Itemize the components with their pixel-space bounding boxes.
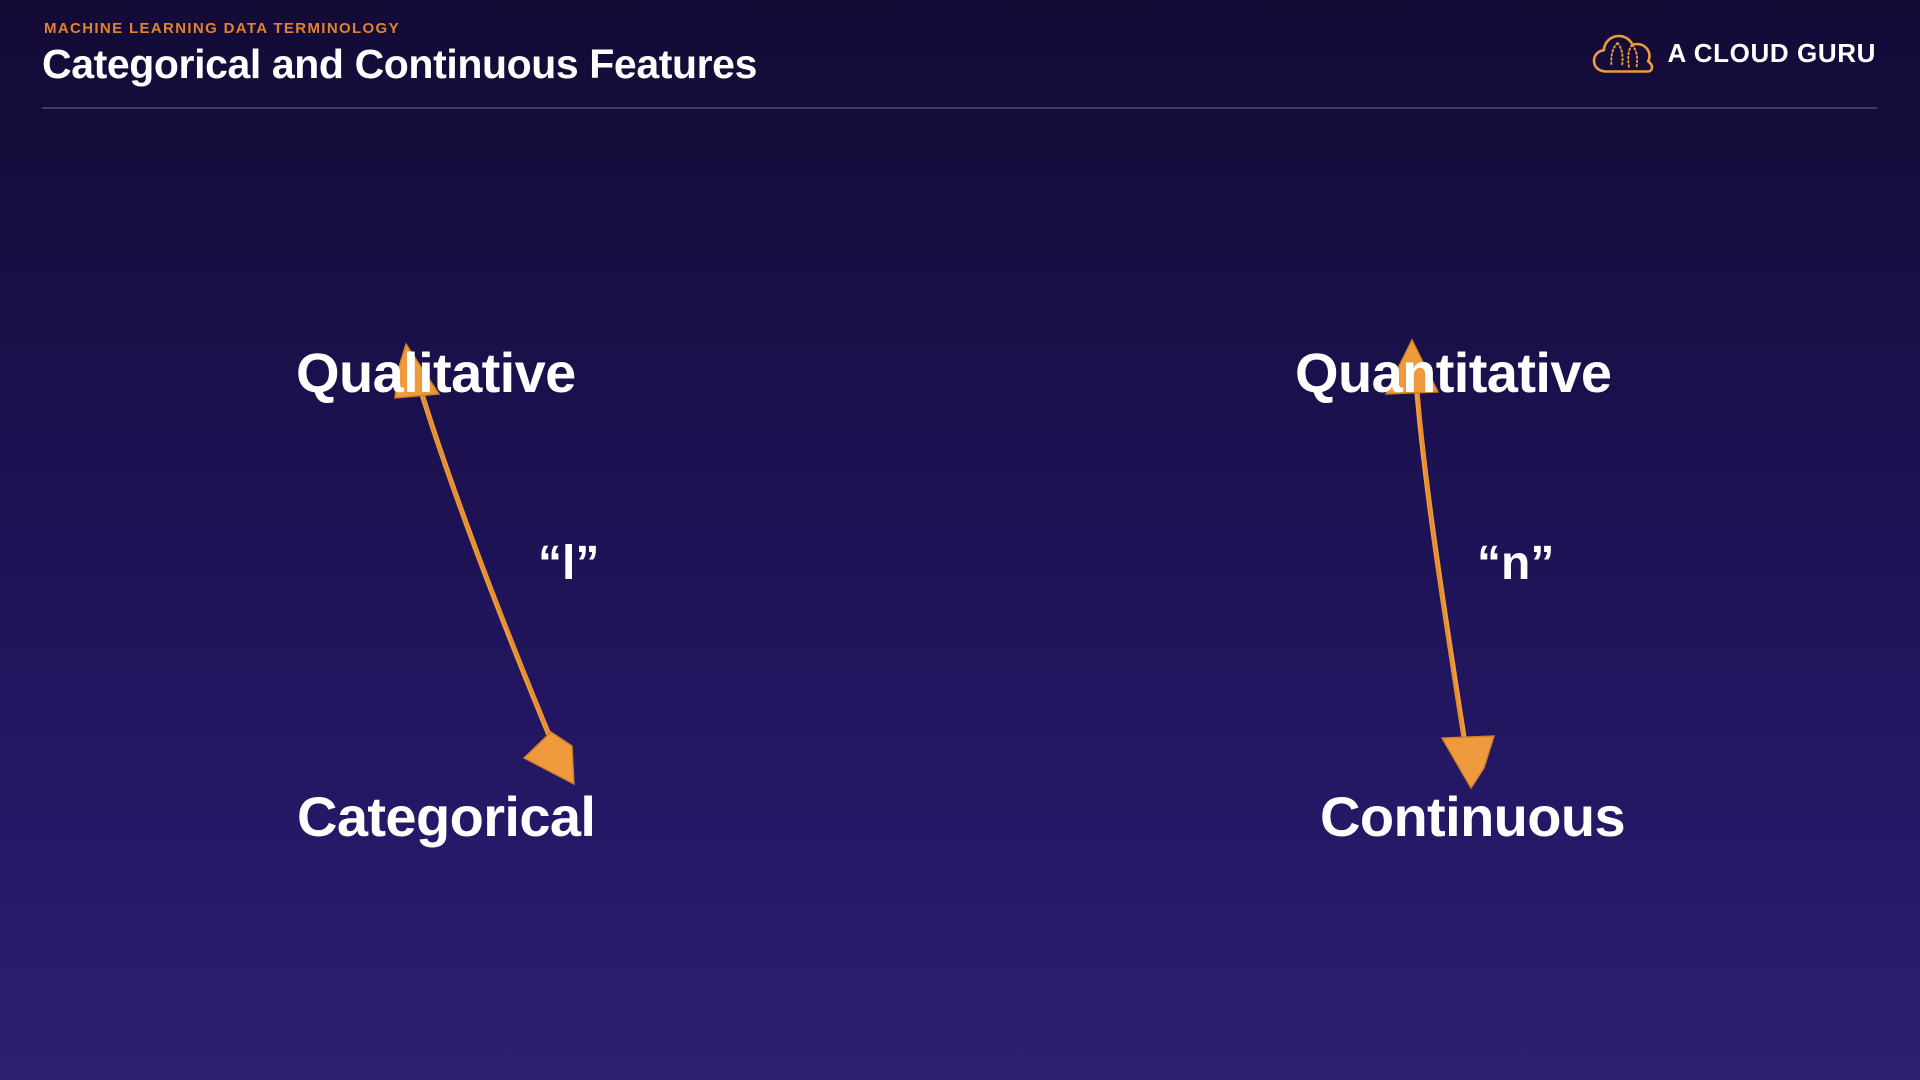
brand-lockup: A CLOUD GURU (1592, 30, 1876, 76)
node-quantitative: Quantitative (1295, 340, 1611, 405)
slide-title: Categorical and Continuous Features (42, 41, 757, 88)
node-categorical: Categorical (297, 784, 595, 849)
header-divider (42, 107, 1877, 109)
slide-header: MACHINE LEARNING DATA TERMINOLOGY Catego… (0, 0, 1920, 112)
arrow-label-n: “n” (1477, 536, 1554, 591)
arrow-label-l: “l” (538, 536, 599, 591)
cloud-guru-logo-icon (1592, 32, 1654, 74)
arrow-layer (0, 112, 1920, 1080)
node-qualitative: Qualitative (296, 340, 576, 405)
node-continuous: Continuous (1320, 784, 1625, 849)
slide-eyebrow: MACHINE LEARNING DATA TERMINOLOGY (44, 20, 400, 37)
diagram-stage: Qualitative Categorical “l” Quantitative… (0, 112, 1920, 1080)
brand-name: A CLOUD GURU (1668, 38, 1876, 69)
